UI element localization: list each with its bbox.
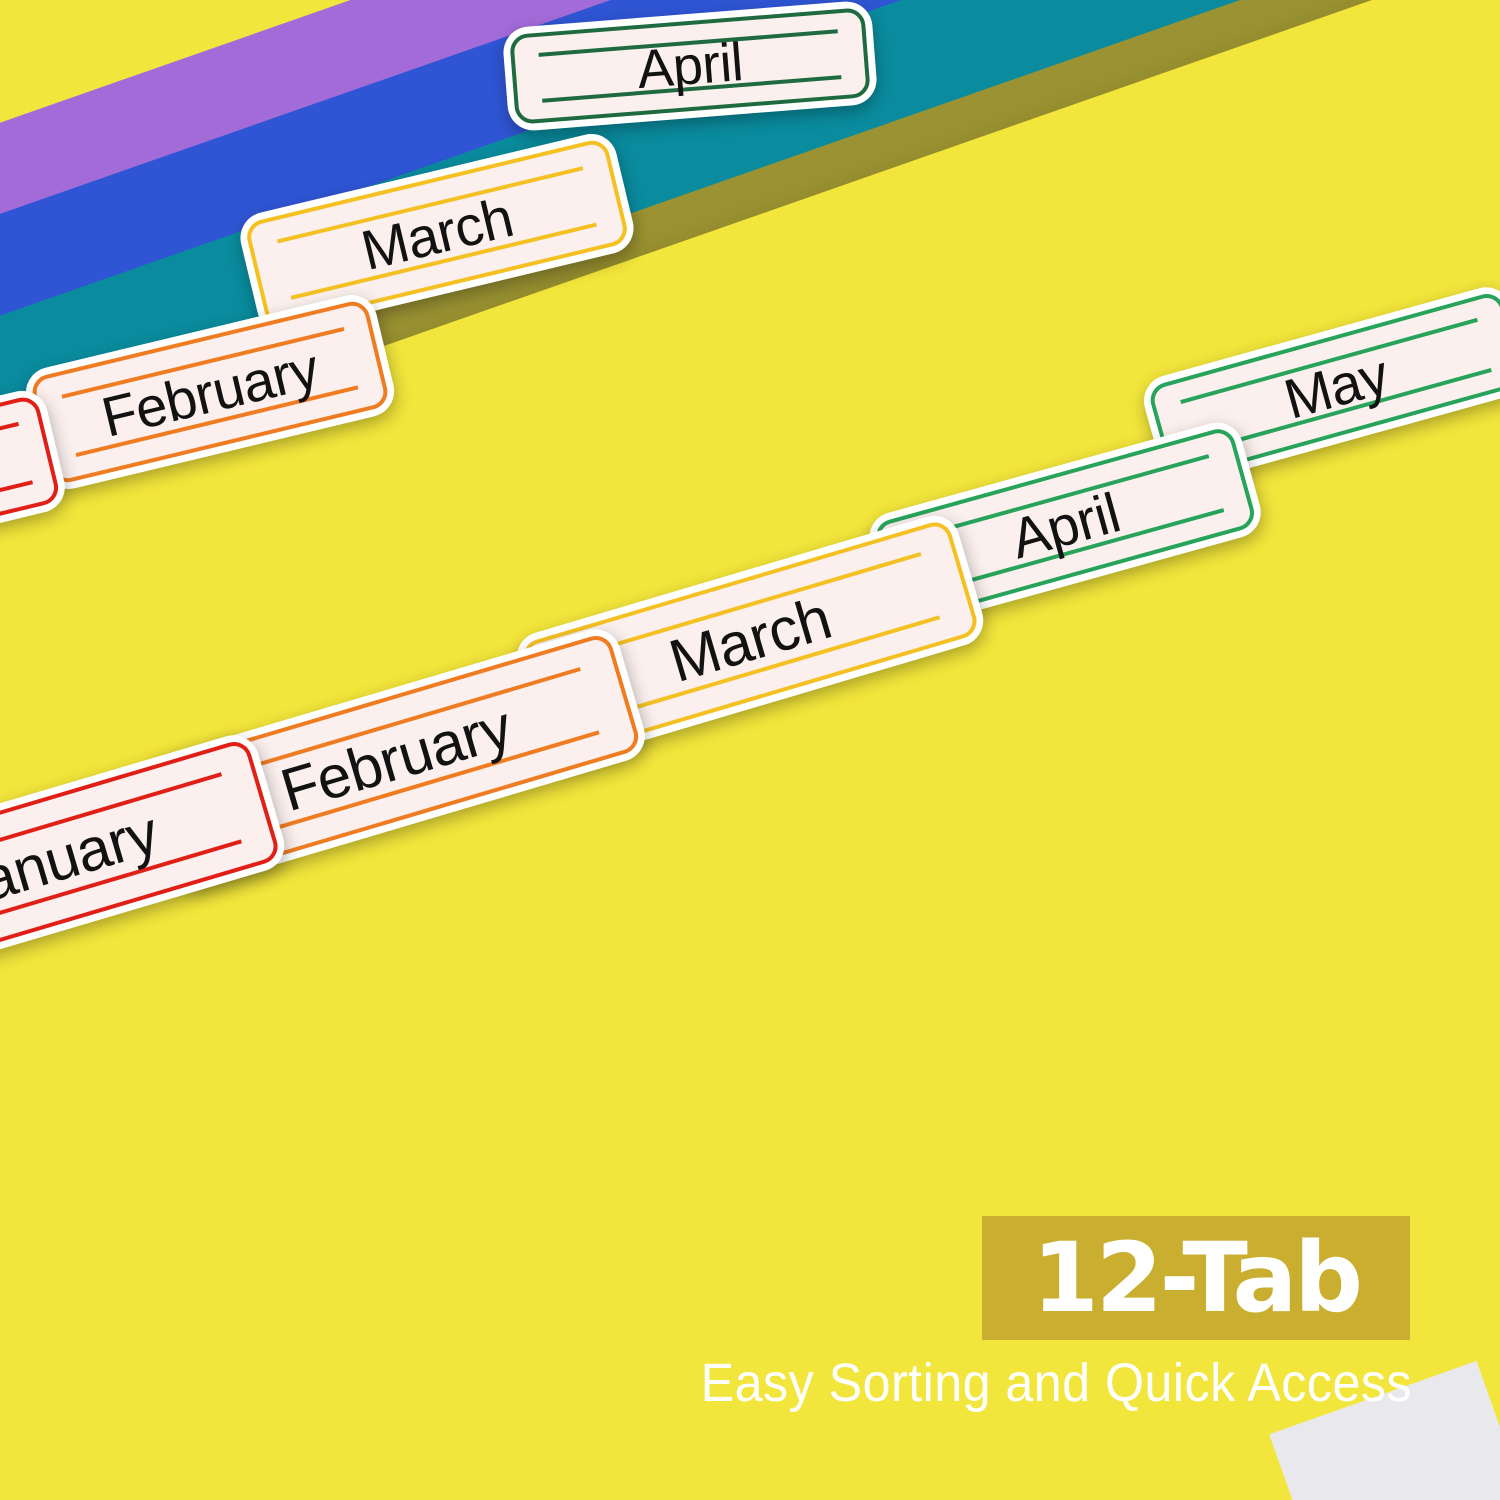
tab-month-label: January: [0, 430, 4, 534]
tab-month-label: March: [661, 583, 838, 696]
tab-month-label: February: [95, 335, 324, 450]
tagline-text: Easy Sorting and Quick Access: [564, 1352, 1412, 1414]
tab-label-frame: April: [509, 7, 871, 125]
product-image: AprilMarchFebruaryJanuaryMayAprilMarchFe…: [0, 0, 1500, 1500]
tab-month-label: April: [1004, 479, 1127, 571]
tab-count-label: 12-Tab: [1032, 1230, 1360, 1326]
tab-month-label: April: [635, 31, 745, 101]
tab-count-badge: 12-Tab: [982, 1216, 1410, 1340]
tab-month-label: May: [1277, 341, 1395, 432]
tab-month-label: March: [355, 184, 519, 283]
tab-month-label: January: [0, 797, 165, 923]
